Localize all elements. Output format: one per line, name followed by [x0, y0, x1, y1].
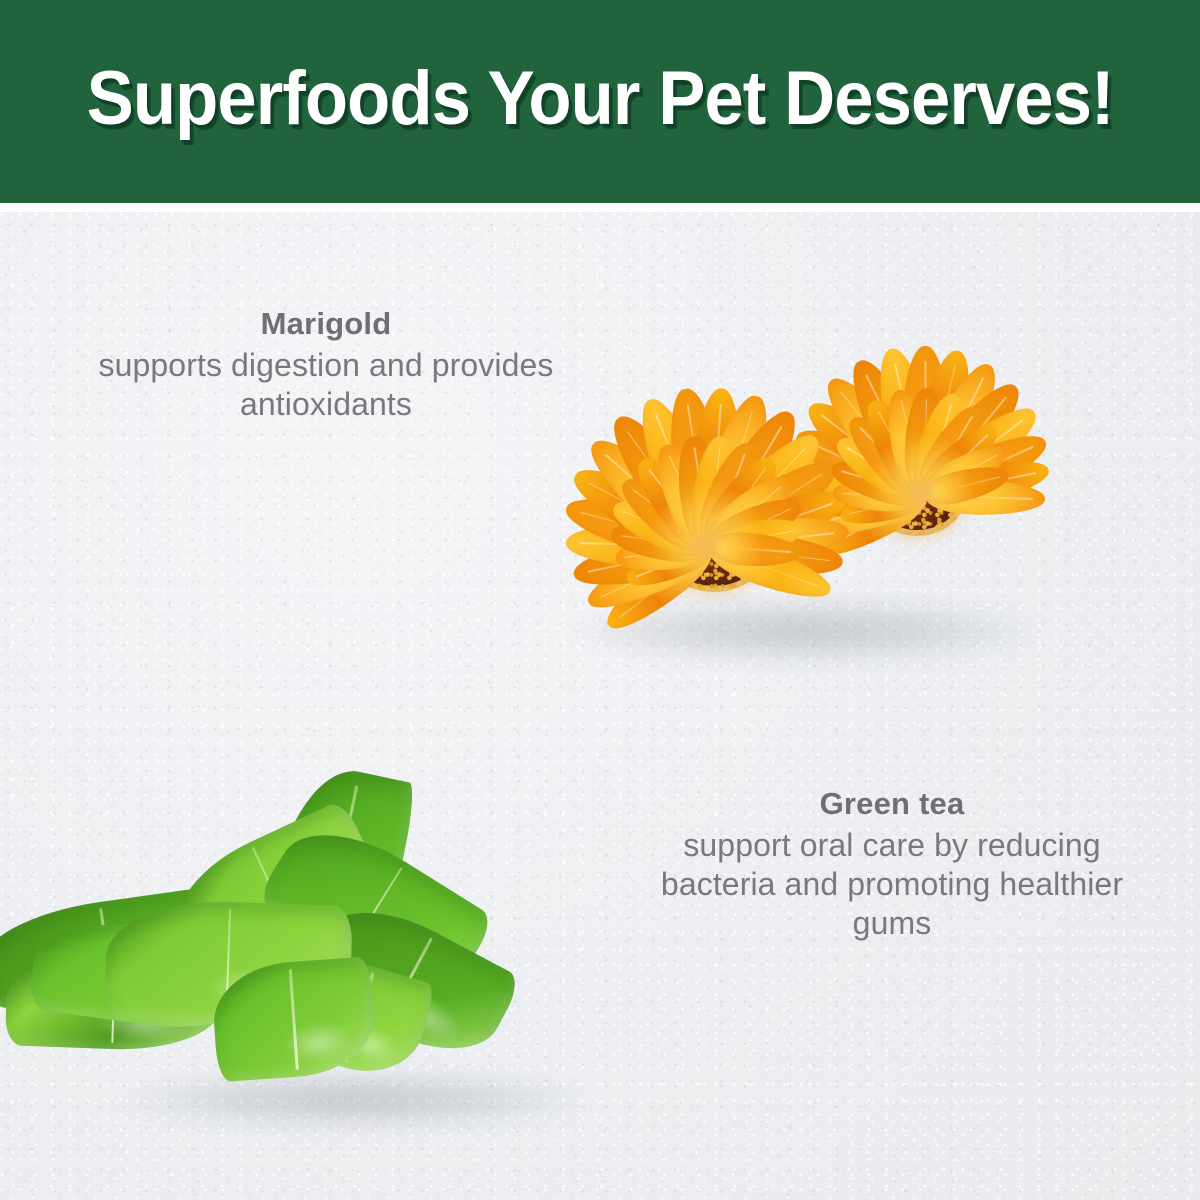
header-banner: Superfoods Your Pet Deserves! — [0, 0, 1200, 203]
green-tea-shadow — [120, 1070, 590, 1130]
marigold-heading: Marigold — [46, 304, 606, 343]
green-tea-heading: Green tea — [648, 784, 1136, 823]
green-tea-text-block: Green tea support oral care by reducing … — [648, 784, 1136, 943]
green-tea-leaves-image — [60, 752, 700, 1152]
content-canvas: Marigold supports digestion and provides… — [0, 212, 1200, 1200]
page-title: Superfoods Your Pet Deserves! — [86, 61, 1113, 143]
marigold-description: supports digestion and provides antioxid… — [46, 346, 606, 424]
poster: Superfoods Your Pet Deserves! Marigold s… — [0, 0, 1200, 1200]
green-tea-description: support oral care by reducing bacteria a… — [648, 826, 1136, 943]
marigold-text-block: Marigold supports digestion and provides… — [46, 304, 606, 424]
